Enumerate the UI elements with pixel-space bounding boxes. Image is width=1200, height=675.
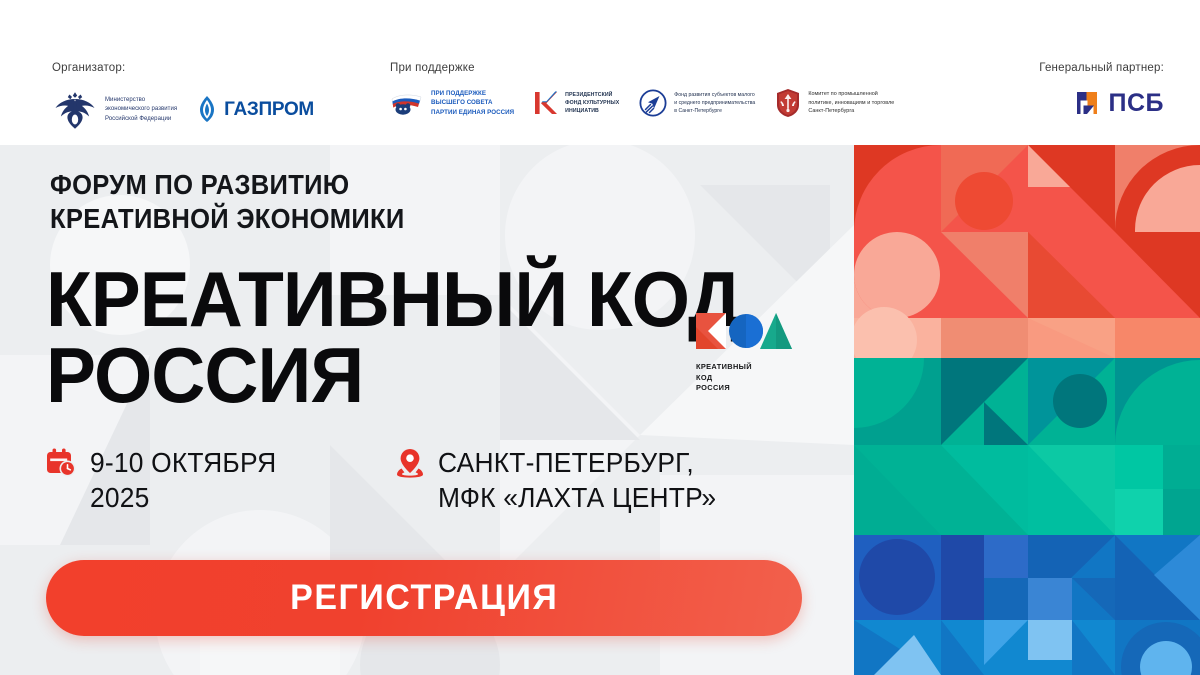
geometric-pattern-art xyxy=(854,145,1200,675)
bear-tricolor-icon xyxy=(390,90,424,116)
hero-headline: КРЕАТИВНЫЙ КОД РОССИЯ xyxy=(46,261,740,414)
spb-industry-committee-logo-text: Комитет по промышленной политике, иннова… xyxy=(808,90,894,116)
minek-logo-text: Министерство экономического развития Рос… xyxy=(105,96,177,124)
poster-root: Организатор: xyxy=(0,0,1200,675)
minek-logo: Министерство экономического развития Рос… xyxy=(52,88,177,132)
gazprom-flame-icon xyxy=(197,95,217,125)
pfki-logo: ПРЕЗИДЕНТСКИЙ ФОНД КУЛЬТУРНЫХ ИНИЦИАТИВ xyxy=(534,89,619,117)
united-russia-logo-text: ПРИ ПОДДЕРЖКЕ ВЫСШЕГО СОВЕТА ПАРТИИ ЕДИН… xyxy=(431,89,514,117)
general-partner-logos: ПСБ xyxy=(1039,88,1164,118)
registration-button-label: РЕГИСТРАЦИЯ xyxy=(290,578,558,618)
pfki-k-icon xyxy=(534,89,558,117)
event-date: 9-10 ОКТЯБРЯ 2025 xyxy=(46,445,396,515)
paper-plane-circle-icon xyxy=(639,89,667,117)
smb-fund-spb-logo-text: Фонд развития субъектов малого и среднег… xyxy=(674,91,755,115)
smb-fund-spb-logo: Фонд развития субъектов малого и среднег… xyxy=(639,89,755,117)
general-partner-caption: Генеральный партнер: xyxy=(1039,62,1164,74)
event-logo: КРЕАТИВНЫЙ КОД РОССИЯ xyxy=(696,313,792,394)
event-logo-caption: КРЕАТИВНЫЙ КОД РОССИЯ xyxy=(696,362,792,394)
psb-logo: ПСБ xyxy=(1074,88,1165,118)
double-headed-eagle-icon xyxy=(52,88,98,132)
calendar-clock-icon xyxy=(46,448,76,478)
hero-content: ФОРУМ ПО РАЗВИТИЮ КРЕАТИВНОЙ ЭКОНОМИКИ К… xyxy=(0,145,854,675)
creative-code-mark-icon xyxy=(696,313,792,349)
geometric-pattern-panel xyxy=(854,145,1200,675)
partner-group-support: При поддержке ПРИ ПОДДЕРЖКЕ xyxy=(390,62,894,118)
pfki-logo-text: ПРЕЗИДЕНТСКИЙ ФОНД КУЛЬТУРНЫХ ИНИЦИАТИВ xyxy=(565,91,619,115)
support-caption: При поддержке xyxy=(390,62,894,74)
spb-industry-committee-logo: Комитет по промышленной политике, иннова… xyxy=(775,88,894,118)
psb-arrow-icon xyxy=(1074,88,1102,118)
event-location: САНКТ-ПЕТЕРБУРГ, МФК «ЛАХТА ЦЕНТР» xyxy=(396,445,728,515)
gazprom-logo-text: ГАЗПРОМ xyxy=(224,99,314,121)
event-meta: 9-10 ОКТЯБРЯ 2025 САНКТ-ПЕТЕРБУРГ, МФК «… xyxy=(46,445,806,515)
organizer-logos: Министерство экономического развития Рос… xyxy=(52,88,314,132)
gazprom-logo: ГАЗПРОМ xyxy=(197,95,314,125)
organizer-caption: Организатор: xyxy=(52,62,314,74)
united-russia-logo: ПРИ ПОДДЕРЖКЕ ВЫСШЕГО СОВЕТА ПАРТИИ ЕДИН… xyxy=(390,89,514,117)
partner-bar: Организатор: xyxy=(0,0,1200,145)
psb-logo-text: ПСБ xyxy=(1109,89,1165,118)
support-logos: ПРИ ПОДДЕРЖКЕ ВЫСШЕГО СОВЕТА ПАРТИИ ЕДИН… xyxy=(390,88,894,118)
partner-group-organizer: Организатор: xyxy=(52,62,314,132)
hero-kicker: ФОРУМ ПО РАЗВИТИЮ КРЕАТИВНОЙ ЭКОНОМИКИ xyxy=(50,168,405,235)
map-pin-icon xyxy=(396,448,424,478)
event-date-text: 9-10 ОКТЯБРЯ 2025 xyxy=(90,445,276,515)
partner-group-general: Генеральный партнер: ПСБ xyxy=(1039,62,1164,118)
spb-coat-of-arms-icon xyxy=(775,88,801,118)
event-location-text: САНКТ-ПЕТЕРБУРГ, МФК «ЛАХТА ЦЕНТР» xyxy=(438,445,716,515)
registration-button[interactable]: РЕГИСТРАЦИЯ xyxy=(46,560,802,636)
